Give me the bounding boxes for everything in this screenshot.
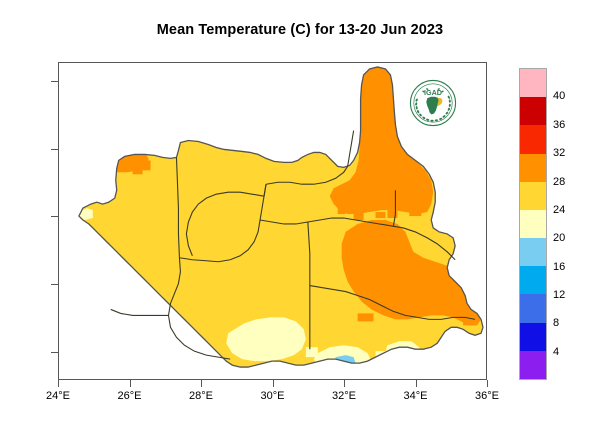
colorbar-band-32-36 <box>520 125 546 153</box>
xtick-label-24E: 24°E <box>35 390 81 402</box>
raster-pixel <box>376 212 386 218</box>
figure-canvas: Mean Temperature (C) for 13-20 Jun 2023 <box>0 0 600 433</box>
colorbar-label-4: 4 <box>553 346 559 358</box>
colorbar-band-12-16 <box>520 266 546 294</box>
colorbar-band-8-12 <box>520 294 546 322</box>
xtick-label-30E: 30°E <box>250 390 296 402</box>
xtick-mark-34E <box>416 380 417 387</box>
igad-logo: IGAD <box>409 79 457 127</box>
xtick-mark-32E <box>344 380 345 387</box>
raster-pixel <box>338 206 346 214</box>
colorbar-label-32: 32 <box>553 147 565 159</box>
colorbar-label-24: 24 <box>553 204 565 216</box>
xtick-mark-26E <box>130 380 131 387</box>
colorbar-band-below-4 <box>520 351 546 379</box>
page-title: Mean Temperature (C) for 13-20 Jun 2023 <box>0 22 600 38</box>
xtick-label-34E: 34°E <box>393 390 439 402</box>
xtick-mark-24E <box>58 380 59 387</box>
admin-boundary-7 <box>111 309 169 315</box>
xtick-mark-28E <box>201 380 202 387</box>
colorbar-label-28: 28 <box>553 176 565 188</box>
colorbar-band-20-24 <box>520 210 546 238</box>
xtick-mark-30E <box>273 380 274 387</box>
raster-pixel <box>85 150 93 158</box>
xtick-mark-36E <box>487 380 488 387</box>
colorbar-band-16-20 <box>520 238 546 266</box>
raster-pixel <box>306 347 318 357</box>
logo-text: IGAD <box>424 88 442 97</box>
ytick-mark-6N <box>51 284 58 285</box>
ytick-mark-10N <box>51 149 58 150</box>
xtick-label-32E: 32°E <box>321 390 367 402</box>
colorbar-label-40: 40 <box>553 90 565 102</box>
raster-pixel <box>409 208 421 216</box>
colorbar-label-20: 20 <box>553 232 565 244</box>
colorbar-band-36-40 <box>520 97 546 125</box>
raster-pixel <box>471 301 481 313</box>
raster-pixel <box>133 166 143 174</box>
raster-pixel <box>354 212 364 220</box>
colorbar-band-24-28 <box>520 182 546 210</box>
ytick-mark-12N <box>51 81 58 82</box>
colorbar-band-28-32 <box>520 154 546 182</box>
colorbar-label-8: 8 <box>553 317 559 329</box>
raster-pixel <box>358 313 374 321</box>
xtick-label-26E: 26°E <box>107 390 153 402</box>
igad-logo-graphic: IGAD <box>409 79 457 127</box>
colorbar-label-12: 12 <box>553 289 565 301</box>
colorbar-label-36: 36 <box>553 119 565 131</box>
xtick-label-36E: 36°E <box>464 390 510 402</box>
xtick-label-28E: 28°E <box>178 390 224 402</box>
colorbar-label-16: 16 <box>553 261 565 273</box>
raster-pixel <box>344 198 352 206</box>
ytick-mark-8N <box>51 216 58 217</box>
raster-pixel <box>143 160 151 170</box>
colorbar-band-4-8 <box>520 323 546 351</box>
colorbar <box>519 68 547 380</box>
band-20-24-southeast-small <box>385 341 419 363</box>
ytick-mark-4N <box>51 352 58 353</box>
colorbar-band-above-40 <box>520 69 546 97</box>
